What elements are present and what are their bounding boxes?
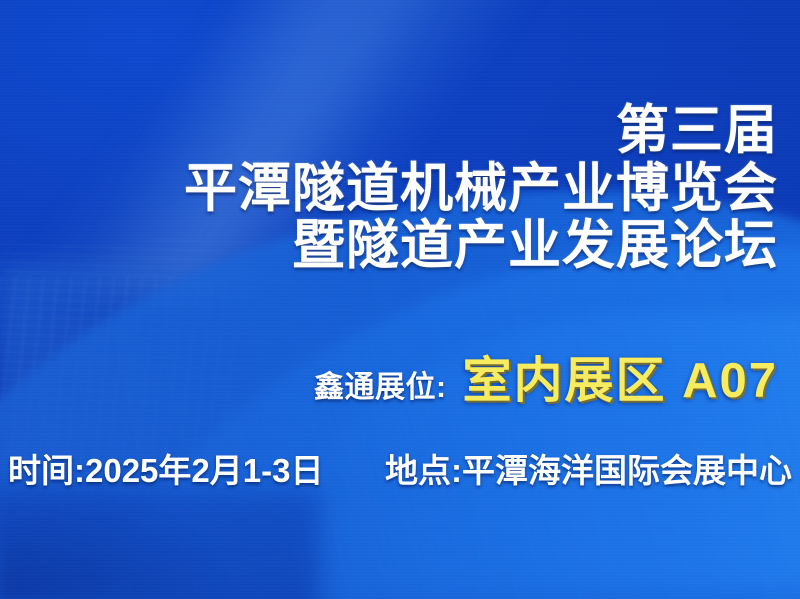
title-line-expo-name: 平潭隧道机械产业博览会: [184, 162, 778, 217]
booth-info: 鑫通展位: 室内展区 A07: [314, 341, 778, 412]
poster-content: 第三届 平潭隧道机械产业博览会 暨隧道产业发展论坛 鑫通展位: 室内展区 A07…: [0, 0, 800, 599]
booth-number: 室内展区 A07: [462, 341, 778, 412]
booth-label: 鑫通展位:: [314, 362, 447, 406]
title-line-edition: 第三届: [184, 104, 778, 159]
poster-title: 第三届 平潭隧道机械产业博览会 暨隧道产业发展论坛: [184, 104, 778, 274]
event-date: 时间:2025年2月1-3日: [8, 444, 323, 492]
event-details: 时间:2025年2月1-3日 地点:平潭海洋国际会展中心: [8, 444, 792, 492]
exhibition-poster: 第三届 平潭隧道机械产业博览会 暨隧道产业发展论坛 鑫通展位: 室内展区 A07…: [0, 0, 800, 599]
title-line-forum-name: 暨隧道产业发展论坛: [184, 219, 778, 274]
event-venue: 地点:平潭海洋国际会展中心: [385, 444, 792, 492]
